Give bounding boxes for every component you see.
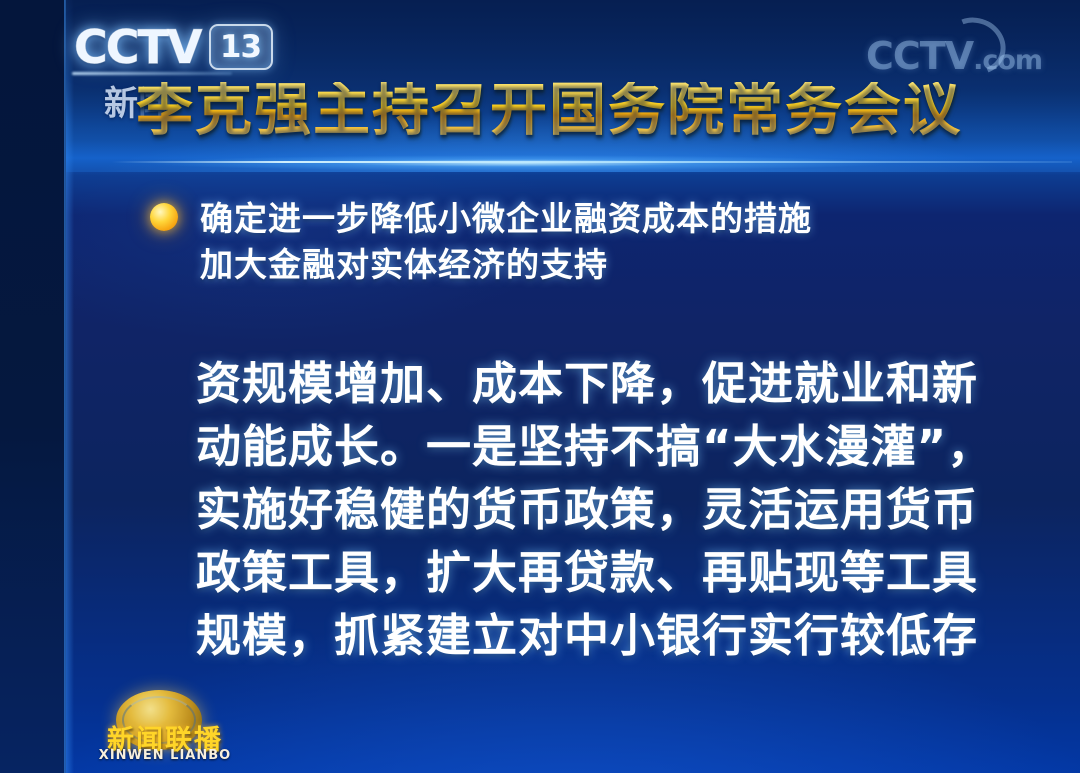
- news-badge-char-1: 新: [104, 84, 138, 124]
- header-divider-line: [112, 161, 1072, 163]
- bullet-dot-icon: [150, 203, 178, 231]
- body-paragraph: 资规模增加、成本下降，促进就业和新 动能成长。一是坚持不搞“大水漫灌”， 实施好…: [196, 352, 993, 667]
- body-line: 规模，抓紧建立对中小银行实行较低存: [196, 604, 993, 667]
- bullet-text: 确定进一步降低小微企业融资成本的措施 加大金融对实体经济的支持: [200, 196, 812, 288]
- bullet-line: 加大金融对实体经济的支持: [200, 242, 812, 288]
- program-name-en: XINWEN LIANBO: [90, 748, 240, 763]
- page-title: 李克强主持召开国务院常务会议: [136, 82, 962, 139]
- body-line: 动能成长。一是坚持不搞“大水漫灌”，: [196, 415, 993, 478]
- background-left-gutter: [0, 0, 66, 773]
- body-line: 实施好稳健的货币政策，灵活运用货币: [196, 478, 993, 541]
- broadcast-screen: CCTV 13 CCTV.com 新闻 李克强主持召开国务院常务会议 确定进一步…: [0, 0, 1080, 773]
- body-line: 政策工具，扩大再贷款、再贴现等工具: [196, 541, 993, 604]
- cctv13-channel-logo: CCTV 13: [74, 20, 273, 74]
- cctv13-logo-underline: [72, 72, 232, 75]
- channel-number-box: 13: [209, 24, 273, 70]
- bullet-line: 确定进一步降低小微企业融资成本的措施: [200, 196, 812, 242]
- body-line: 资规模增加、成本下降，促进就业和新: [196, 352, 993, 415]
- cctv-wordmark: CCTV: [74, 20, 201, 74]
- header-divider-glow: [60, 150, 1080, 176]
- channel-number: 13: [220, 29, 261, 65]
- program-logo: 新闻联播 XINWEN LIANBO: [78, 688, 246, 773]
